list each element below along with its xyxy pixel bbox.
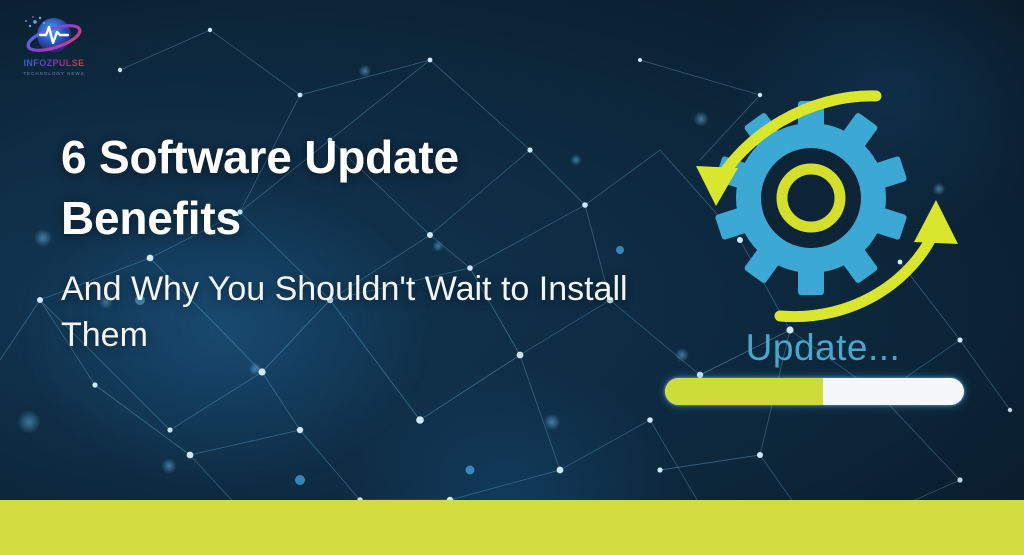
bottom-accent-band <box>0 500 1024 555</box>
update-status-label: Update... <box>668 327 978 369</box>
page-title: 6 Software Update Benefits <box>61 127 621 249</box>
update-progress-bar <box>665 378 964 405</box>
logo-wordmark: INFOZPULSE <box>23 58 84 68</box>
update-gear-graphic <box>668 78 978 328</box>
site-logo[interactable]: INFOZPULSE TECHNOLOGY NEWS <box>8 8 100 70</box>
update-progress-fill <box>665 378 823 405</box>
promo-banner: INFOZPULSE TECHNOLOGY NEWS 6 Software Up… <box>0 0 1024 555</box>
page-subtitle: And Why You Shouldn't Wait to Install Th… <box>61 266 661 358</box>
logo-tagline: TECHNOLOGY NEWS <box>23 71 84 76</box>
gear-icon <box>668 78 978 328</box>
